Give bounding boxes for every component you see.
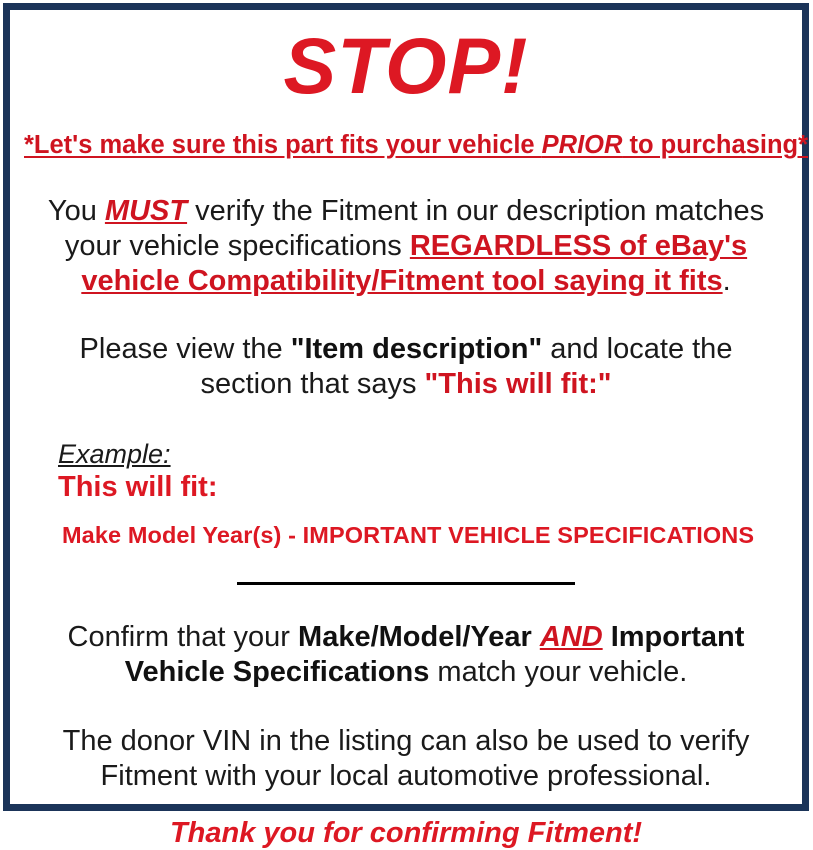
- subtitle-emphasis-prior: PRIOR: [542, 131, 623, 159]
- subtitle-line: *Let's make sure this part fits your veh…: [24, 108, 788, 160]
- and-emphasis: AND: [540, 621, 603, 653]
- navy-frame-border: STOP! *Let's make sure this part fits yo…: [3, 3, 809, 811]
- example-block: Example: This will fit: Make Model Year(…: [24, 402, 788, 549]
- must-emphasis: MUST: [105, 195, 187, 227]
- item-description-paragraph: Please view the "Item description" and l…: [24, 299, 788, 402]
- horizontal-rule-divider: [237, 582, 575, 585]
- this-will-fit-emphasis: "This will fit:": [425, 368, 612, 400]
- divider-row: [24, 549, 788, 593]
- donor-vin-paragraph: The donor VIN in the listing can also be…: [24, 690, 788, 794]
- item-desc-part-1: Please view the: [80, 333, 291, 365]
- subtitle-lead: *Let's make sure this part fits your veh…: [24, 131, 542, 159]
- verify-text-part-1: You: [48, 195, 105, 227]
- notice-sheet: STOP! *Let's make sure this part fits yo…: [10, 10, 802, 804]
- stop-title: STOP!: [24, 10, 788, 108]
- confirm-part-2: [532, 621, 540, 653]
- example-label: Example:: [58, 439, 171, 469]
- closing-thank-you: Thank you for confirming Fitment!: [24, 794, 788, 850]
- make-model-year-emphasis: Make/Model/Year: [298, 621, 532, 653]
- example-spec-line: Make Model Year(s) - IMPORTANT VEHICLE S…: [58, 504, 788, 549]
- verify-fitment-paragraph: You MUST verify the Fitment in our descr…: [24, 160, 788, 299]
- confirm-part-4: match your vehicle.: [429, 656, 687, 688]
- item-description-emphasis: "Item description": [291, 333, 542, 365]
- verify-text-part-3: .: [723, 265, 731, 297]
- example-fit-heading: This will fit:: [58, 469, 788, 504]
- confirm-part-1: Confirm that your: [68, 621, 298, 653]
- example-label-row: Example:: [58, 439, 788, 469]
- fitment-notice-card: STOP! *Let's make sure this part fits yo…: [0, 0, 813, 814]
- confirm-paragraph: Confirm that your Make/Model/Year AND Im…: [24, 593, 788, 690]
- confirm-part-3: [603, 621, 611, 653]
- subtitle-tail: to purchasing*: [622, 131, 808, 159]
